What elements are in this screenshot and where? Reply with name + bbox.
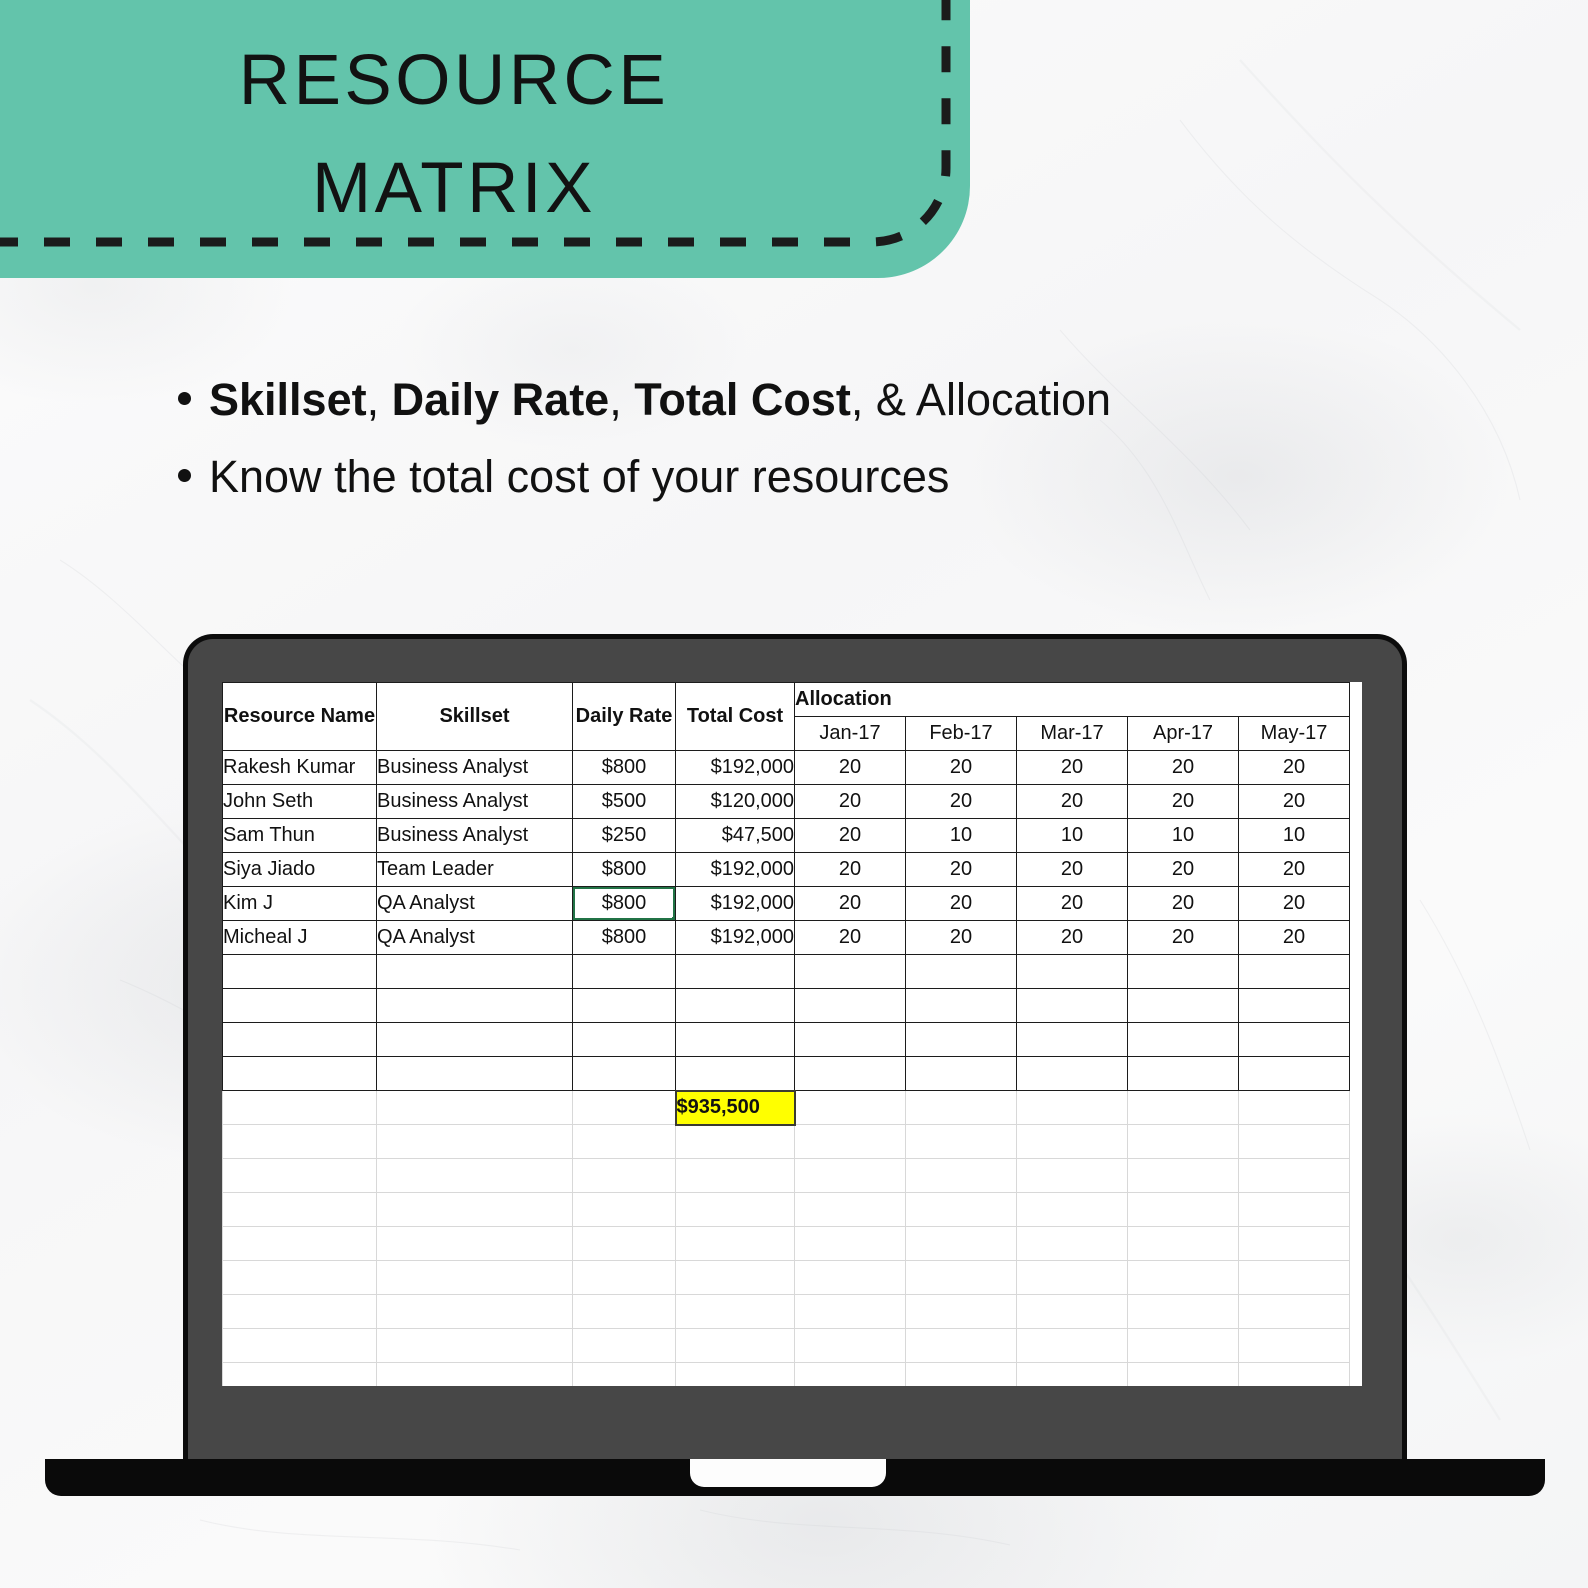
cell-empty[interactable]	[223, 1023, 377, 1057]
cell-allocation-month-4[interactable]: 10	[1128, 819, 1239, 853]
cell-empty[interactable]	[1128, 1329, 1239, 1363]
cell-empty[interactable]	[573, 1261, 676, 1295]
cell-allocation-month-1[interactable]: 20	[795, 785, 906, 819]
cell-allocation-month-5[interactable]: 20	[1239, 853, 1350, 887]
sheet-blank-row	[223, 1261, 1350, 1295]
cell-allocation-month-1[interactable]: 20	[795, 751, 906, 785]
cell-skillset[interactable]: Team Leader	[377, 853, 573, 887]
cell-empty[interactable]	[676, 1261, 795, 1295]
cell-empty[interactable]	[573, 1159, 676, 1193]
cell-empty[interactable]	[676, 1227, 795, 1261]
cell-empty[interactable]	[1239, 1329, 1350, 1363]
cell-empty[interactable]	[676, 955, 795, 989]
cell-empty[interactable]	[1128, 1295, 1239, 1329]
cell-empty[interactable]	[1017, 1363, 1128, 1387]
cell-daily-rate[interactable]: $500	[573, 785, 676, 819]
cell-daily-rate[interactable]: $800	[573, 751, 676, 785]
sheet-blank-row	[223, 1125, 1350, 1159]
cell-resource-name[interactable]: Kim J	[223, 887, 377, 921]
cell-empty[interactable]	[676, 1023, 795, 1057]
cell-skillset[interactable]: Business Analyst	[377, 751, 573, 785]
cell-empty[interactable]	[906, 1091, 1017, 1125]
table-empty-row	[223, 1057, 1350, 1091]
cell-allocation-month-2[interactable]: 20	[906, 751, 1017, 785]
cell-empty[interactable]	[1017, 955, 1128, 989]
sheet-blank-row	[223, 1329, 1350, 1363]
cell-empty[interactable]	[377, 989, 573, 1023]
cell-resource-name[interactable]: Sam Thun	[223, 819, 377, 853]
cell-skillset[interactable]: QA Analyst	[377, 887, 573, 921]
cell-empty[interactable]	[1239, 1159, 1350, 1193]
cell-allocation-month-2[interactable]: 20	[906, 853, 1017, 887]
cell-empty[interactable]	[795, 1023, 906, 1057]
cell-empty[interactable]	[1017, 1295, 1128, 1329]
cell-empty[interactable]	[377, 1363, 573, 1387]
table-row: John SethBusiness Analyst$500$120,000202…	[223, 785, 1350, 819]
cell-empty[interactable]	[906, 1023, 1017, 1057]
cell-empty[interactable]	[573, 1363, 676, 1387]
cell-empty[interactable]	[1239, 955, 1350, 989]
grand-total-row: $935,500	[223, 1091, 1350, 1125]
cell-allocation-month-5[interactable]: 20	[1239, 785, 1350, 819]
cell-empty[interactable]	[1128, 989, 1239, 1023]
cell-empty[interactable]	[223, 1295, 377, 1329]
cell-empty[interactable]	[1239, 989, 1350, 1023]
cell-empty[interactable]	[377, 1295, 573, 1329]
cell-empty[interactable]	[795, 1329, 906, 1363]
column-header-month-2: Feb-17	[906, 717, 1017, 751]
cell-empty[interactable]	[906, 989, 1017, 1023]
cell-empty[interactable]	[1128, 1159, 1239, 1193]
cell-allocation-month-2[interactable]: 10	[906, 819, 1017, 853]
cell-daily-rate[interactable]: $800	[573, 921, 676, 955]
cell-allocation-month-1[interactable]: 20	[795, 819, 906, 853]
cell-empty[interactable]	[377, 1227, 573, 1261]
sheet-blank-row	[223, 1159, 1350, 1193]
cell-empty[interactable]	[795, 1057, 906, 1091]
cell-allocation-month-1[interactable]: 20	[795, 887, 906, 921]
sheet-blank-row	[223, 1227, 1350, 1261]
cell-allocation-month-5[interactable]: 20	[1239, 887, 1350, 921]
cell-allocation-month-3[interactable]: 20	[1017, 785, 1128, 819]
cell-allocation-month-2[interactable]: 20	[906, 785, 1017, 819]
cell-empty[interactable]	[906, 1363, 1017, 1387]
cell-allocation-month-4[interactable]: 20	[1128, 853, 1239, 887]
sheet-blank-row	[223, 1363, 1350, 1387]
column-header-resource-name: Resource Name	[223, 683, 377, 751]
cell-empty[interactable]	[906, 1057, 1017, 1091]
cell-total-cost[interactable]: $192,000	[676, 751, 795, 785]
cell-empty[interactable]	[377, 1125, 573, 1159]
cell-empty[interactable]	[676, 1057, 795, 1091]
table-row: Rakesh KumarBusiness Analyst$800$192,000…	[223, 751, 1350, 785]
cell-empty[interactable]	[1017, 1261, 1128, 1295]
cell-empty[interactable]	[1239, 1261, 1350, 1295]
cell-empty[interactable]	[223, 1159, 377, 1193]
cell-empty[interactable]	[1128, 1125, 1239, 1159]
cell-empty[interactable]	[573, 1057, 676, 1091]
cell-empty[interactable]	[1239, 1193, 1350, 1227]
cell-empty[interactable]	[1239, 1057, 1350, 1091]
cell-empty[interactable]	[795, 1125, 906, 1159]
cell-allocation-month-3[interactable]: 20	[1017, 921, 1128, 955]
laptop-mockup: Resource NameSkillsetDaily RateTotal Cos…	[0, 0, 1588, 1588]
cell-empty[interactable]	[1239, 1227, 1350, 1261]
cell-empty[interactable]	[1017, 1227, 1128, 1261]
cell-empty[interactable]	[795, 989, 906, 1023]
cell-total-cost[interactable]: $192,000	[676, 921, 795, 955]
cell-empty[interactable]	[676, 1295, 795, 1329]
cell-total-cost[interactable]: $47,500	[676, 819, 795, 853]
table-empty-row	[223, 955, 1350, 989]
cell-empty[interactable]	[573, 1091, 676, 1125]
cell-allocation-month-4[interactable]: 20	[1128, 887, 1239, 921]
table-empty-row	[223, 989, 1350, 1023]
cell-grand-total[interactable]: $935,500	[676, 1091, 795, 1125]
cell-empty[interactable]	[1128, 1057, 1239, 1091]
cell-empty[interactable]	[1239, 1295, 1350, 1329]
cell-empty[interactable]	[795, 1295, 906, 1329]
table-row: Sam ThunBusiness Analyst$250$47,50020101…	[223, 819, 1350, 853]
cell-empty[interactable]	[377, 1261, 573, 1295]
cell-resource-name[interactable]: Siya Jiado	[223, 853, 377, 887]
table-row: Micheal JQA Analyst$800$192,000202020202…	[223, 921, 1350, 955]
cell-empty[interactable]	[906, 1227, 1017, 1261]
cell-allocation-month-3[interactable]: 20	[1017, 751, 1128, 785]
cell-empty[interactable]	[676, 1193, 795, 1227]
cell-empty[interactable]	[573, 1295, 676, 1329]
column-header-total-cost: Total Cost	[676, 683, 795, 751]
cell-allocation-month-5[interactable]: 10	[1239, 819, 1350, 853]
cell-empty[interactable]	[906, 1159, 1017, 1193]
spreadsheet-screen[interactable]: Resource NameSkillsetDaily RateTotal Cos…	[222, 682, 1362, 1386]
cell-daily-rate[interactable]: $250	[573, 819, 676, 853]
cell-empty[interactable]	[573, 1193, 676, 1227]
cell-resource-name[interactable]: Rakesh Kumar	[223, 751, 377, 785]
cell-empty[interactable]	[1017, 1091, 1128, 1125]
cell-allocation-month-5[interactable]: 20	[1239, 921, 1350, 955]
cell-total-cost[interactable]: $192,000	[676, 887, 795, 921]
cell-empty[interactable]	[573, 955, 676, 989]
cell-empty[interactable]	[906, 1261, 1017, 1295]
cell-empty[interactable]	[1017, 1193, 1128, 1227]
cell-empty[interactable]	[223, 1329, 377, 1363]
cell-empty[interactable]	[906, 1193, 1017, 1227]
cell-allocation-month-3[interactable]: 20	[1017, 853, 1128, 887]
cell-empty[interactable]	[223, 1193, 377, 1227]
cell-empty[interactable]	[377, 1159, 573, 1193]
cell-empty[interactable]	[1239, 1125, 1350, 1159]
cell-empty[interactable]	[1128, 955, 1239, 989]
cell-allocation-month-1[interactable]: 20	[795, 853, 906, 887]
cell-empty[interactable]	[1239, 1363, 1350, 1387]
cell-daily-rate[interactable]: $800	[573, 853, 676, 887]
cell-empty[interactable]	[1128, 1023, 1239, 1057]
cell-allocation-month-1[interactable]: 20	[795, 921, 906, 955]
table-empty-row	[223, 1023, 1350, 1057]
column-header-skillset: Skillset	[377, 683, 573, 751]
cell-allocation-month-4[interactable]: 20	[1128, 785, 1239, 819]
cell-empty[interactable]	[676, 1159, 795, 1193]
cell-allocation-month-2[interactable]: 20	[906, 921, 1017, 955]
cell-total-cost[interactable]: $192,000	[676, 853, 795, 887]
cell-empty[interactable]	[573, 1227, 676, 1261]
cell-empty[interactable]	[1239, 1023, 1350, 1057]
cell-empty[interactable]	[1128, 1091, 1239, 1125]
cell-resource-name[interactable]: Micheal J	[223, 921, 377, 955]
cell-empty[interactable]	[795, 1261, 906, 1295]
cell-empty[interactable]	[223, 1125, 377, 1159]
sheet-blank-row	[223, 1193, 1350, 1227]
cell-allocation-month-2[interactable]: 20	[906, 887, 1017, 921]
cell-empty[interactable]	[573, 989, 676, 1023]
cell-empty[interactable]	[573, 1329, 676, 1363]
column-header-allocation: Allocation	[795, 683, 1350, 717]
cell-allocation-month-4[interactable]: 20	[1128, 921, 1239, 955]
cell-empty[interactable]	[1128, 1193, 1239, 1227]
cell-empty[interactable]	[795, 1193, 906, 1227]
cell-empty[interactable]	[676, 1329, 795, 1363]
cell-empty[interactable]	[1239, 1091, 1350, 1125]
cell-empty[interactable]	[377, 1193, 573, 1227]
cell-empty[interactable]	[676, 989, 795, 1023]
cell-empty[interactable]	[906, 1329, 1017, 1363]
cell-empty[interactable]	[676, 1125, 795, 1159]
cell-allocation-month-3[interactable]: 10	[1017, 819, 1128, 853]
cell-empty[interactable]	[1017, 1023, 1128, 1057]
cell-empty[interactable]	[795, 1227, 906, 1261]
cell-empty[interactable]	[377, 955, 573, 989]
cell-empty[interactable]	[795, 955, 906, 989]
cell-empty[interactable]	[906, 1295, 1017, 1329]
cell-empty[interactable]	[795, 1363, 906, 1387]
resource-matrix-table[interactable]: Resource NameSkillsetDaily RateTotal Cos…	[222, 682, 1350, 1386]
sheet-blank-row	[223, 1295, 1350, 1329]
cell-empty[interactable]	[1017, 989, 1128, 1023]
column-header-month-4: Apr-17	[1128, 717, 1239, 751]
laptop-trackpad-notch	[690, 1459, 886, 1487]
cell-empty[interactable]	[906, 955, 1017, 989]
cell-empty[interactable]	[377, 1057, 573, 1091]
cell-empty[interactable]	[1017, 1125, 1128, 1159]
cell-empty[interactable]	[573, 1023, 676, 1057]
cell-empty[interactable]	[223, 1091, 377, 1125]
cell-allocation-month-3[interactable]: 20	[1017, 887, 1128, 921]
cell-empty[interactable]	[223, 955, 377, 989]
cell-empty[interactable]	[906, 1125, 1017, 1159]
cell-empty[interactable]	[795, 1159, 906, 1193]
column-header-month-3: Mar-17	[1017, 717, 1128, 751]
column-header-month-1: Jan-17	[795, 717, 906, 751]
cell-allocation-month-5[interactable]: 20	[1239, 751, 1350, 785]
cell-daily-rate[interactable]: $800	[573, 887, 676, 921]
cell-empty[interactable]	[223, 1363, 377, 1387]
fill-handle[interactable]	[672, 917, 676, 921]
cell-empty[interactable]	[223, 1057, 377, 1091]
cell-empty[interactable]	[377, 1329, 573, 1363]
table-row: Siya JiadoTeam Leader$800$192,0002020202…	[223, 853, 1350, 887]
cell-empty[interactable]	[377, 1023, 573, 1057]
cell-empty[interactable]	[795, 1091, 906, 1125]
cell-allocation-month-4[interactable]: 20	[1128, 751, 1239, 785]
cell-empty[interactable]	[676, 1363, 795, 1387]
cell-skillset[interactable]: QA Analyst	[377, 921, 573, 955]
cell-empty[interactable]	[573, 1125, 676, 1159]
cell-empty[interactable]	[1128, 1363, 1239, 1387]
cell-empty[interactable]	[1017, 1329, 1128, 1363]
cell-empty[interactable]	[223, 1227, 377, 1261]
column-header-month-5: May-17	[1239, 717, 1350, 751]
cell-skillset[interactable]: Business Analyst	[377, 819, 573, 853]
cell-skillset[interactable]: Business Analyst	[377, 785, 573, 819]
cell-empty[interactable]	[377, 1091, 573, 1125]
cell-resource-name[interactable]: John Seth	[223, 785, 377, 819]
cell-empty[interactable]	[223, 989, 377, 1023]
cell-empty[interactable]	[1128, 1261, 1239, 1295]
cell-empty[interactable]	[1017, 1057, 1128, 1091]
cell-empty[interactable]	[1017, 1159, 1128, 1193]
column-header-daily-rate: Daily Rate	[573, 683, 676, 751]
cell-empty[interactable]	[1128, 1227, 1239, 1261]
table-row: Kim JQA Analyst$800$192,0002020202020	[223, 887, 1350, 921]
cell-total-cost[interactable]: $120,000	[676, 785, 795, 819]
cell-empty[interactable]	[223, 1261, 377, 1295]
table-header-row-1: Resource NameSkillsetDaily RateTotal Cos…	[223, 683, 1350, 717]
